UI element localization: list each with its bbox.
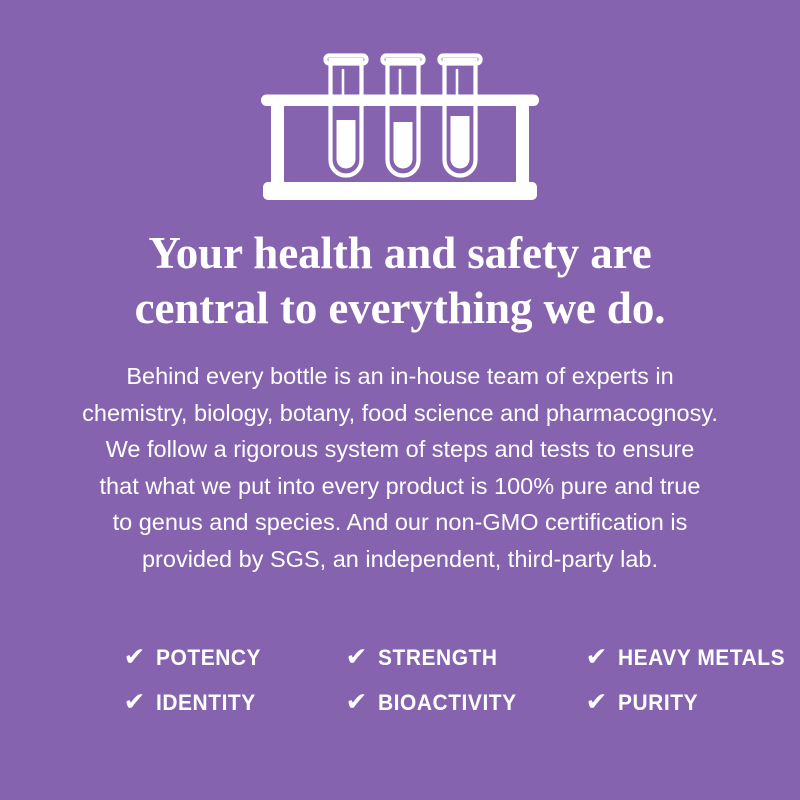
check-icon: ✔ — [585, 644, 607, 669]
check-icon: ✔ — [345, 689, 367, 714]
checklist-item-label: POTENCY — [156, 645, 261, 671]
rack-leg-right — [516, 102, 529, 184]
rack-leg-left — [271, 102, 284, 184]
body-line: Behind every bottle is an in-house team … — [80, 358, 720, 395]
checklist-item-identity: ✔ IDENTITY — [124, 680, 346, 725]
icon-container — [250, 42, 550, 212]
body-line: that what we put into every product is 1… — [80, 468, 720, 505]
quality-promise-panel: Your health and safety are central to ev… — [0, 0, 800, 800]
heading-line-2: central to everything we do. — [135, 283, 666, 333]
body-paragraph: Behind every bottle is an in-house team … — [80, 358, 720, 577]
check-icon: ✔ — [585, 689, 607, 714]
body-line: provided by SGS, an independent, third-p… — [80, 541, 720, 578]
check-icon: ✔ — [345, 644, 367, 669]
heading-line-1: Your health and safety are — [148, 228, 651, 278]
checklist-item-purity: ✔ PURITY — [586, 680, 798, 725]
checklist-item-label: PURITY — [618, 690, 698, 716]
checklist-item-label: BIOACTIVITY — [378, 690, 517, 716]
rack-top-rail — [261, 95, 539, 107]
check-icon: ✔ — [123, 644, 145, 669]
page-title: Your health and safety are central to ev… — [70, 226, 730, 336]
checklist-item-heavy-metals: ✔ HEAVY METALS — [586, 635, 798, 680]
checklist-item-strength: ✔ STRENGTH — [346, 635, 586, 680]
check-icon: ✔ — [123, 689, 145, 714]
checklist-item-label: HEAVY METALS — [618, 645, 785, 671]
body-line: chemistry, biology, botany, food science… — [80, 395, 720, 432]
checklist-item-potency: ✔ POTENCY — [124, 635, 346, 680]
checklist-item-label: IDENTITY — [156, 690, 256, 716]
body-line: to genus and species. And our non-GMO ce… — [80, 504, 720, 541]
rack-base — [263, 182, 537, 200]
test-tube-rack-icon — [255, 42, 545, 212]
checklist-item-bioactivity: ✔ BIOACTIVITY — [346, 680, 586, 725]
body-line: We follow a rigorous system of steps and… — [80, 431, 720, 468]
quality-checklist: ✔ POTENCY ✔ STRENGTH ✔ HEAVY METALS ✔ ID… — [50, 635, 750, 725]
checklist-item-label: STRENGTH — [378, 645, 498, 671]
